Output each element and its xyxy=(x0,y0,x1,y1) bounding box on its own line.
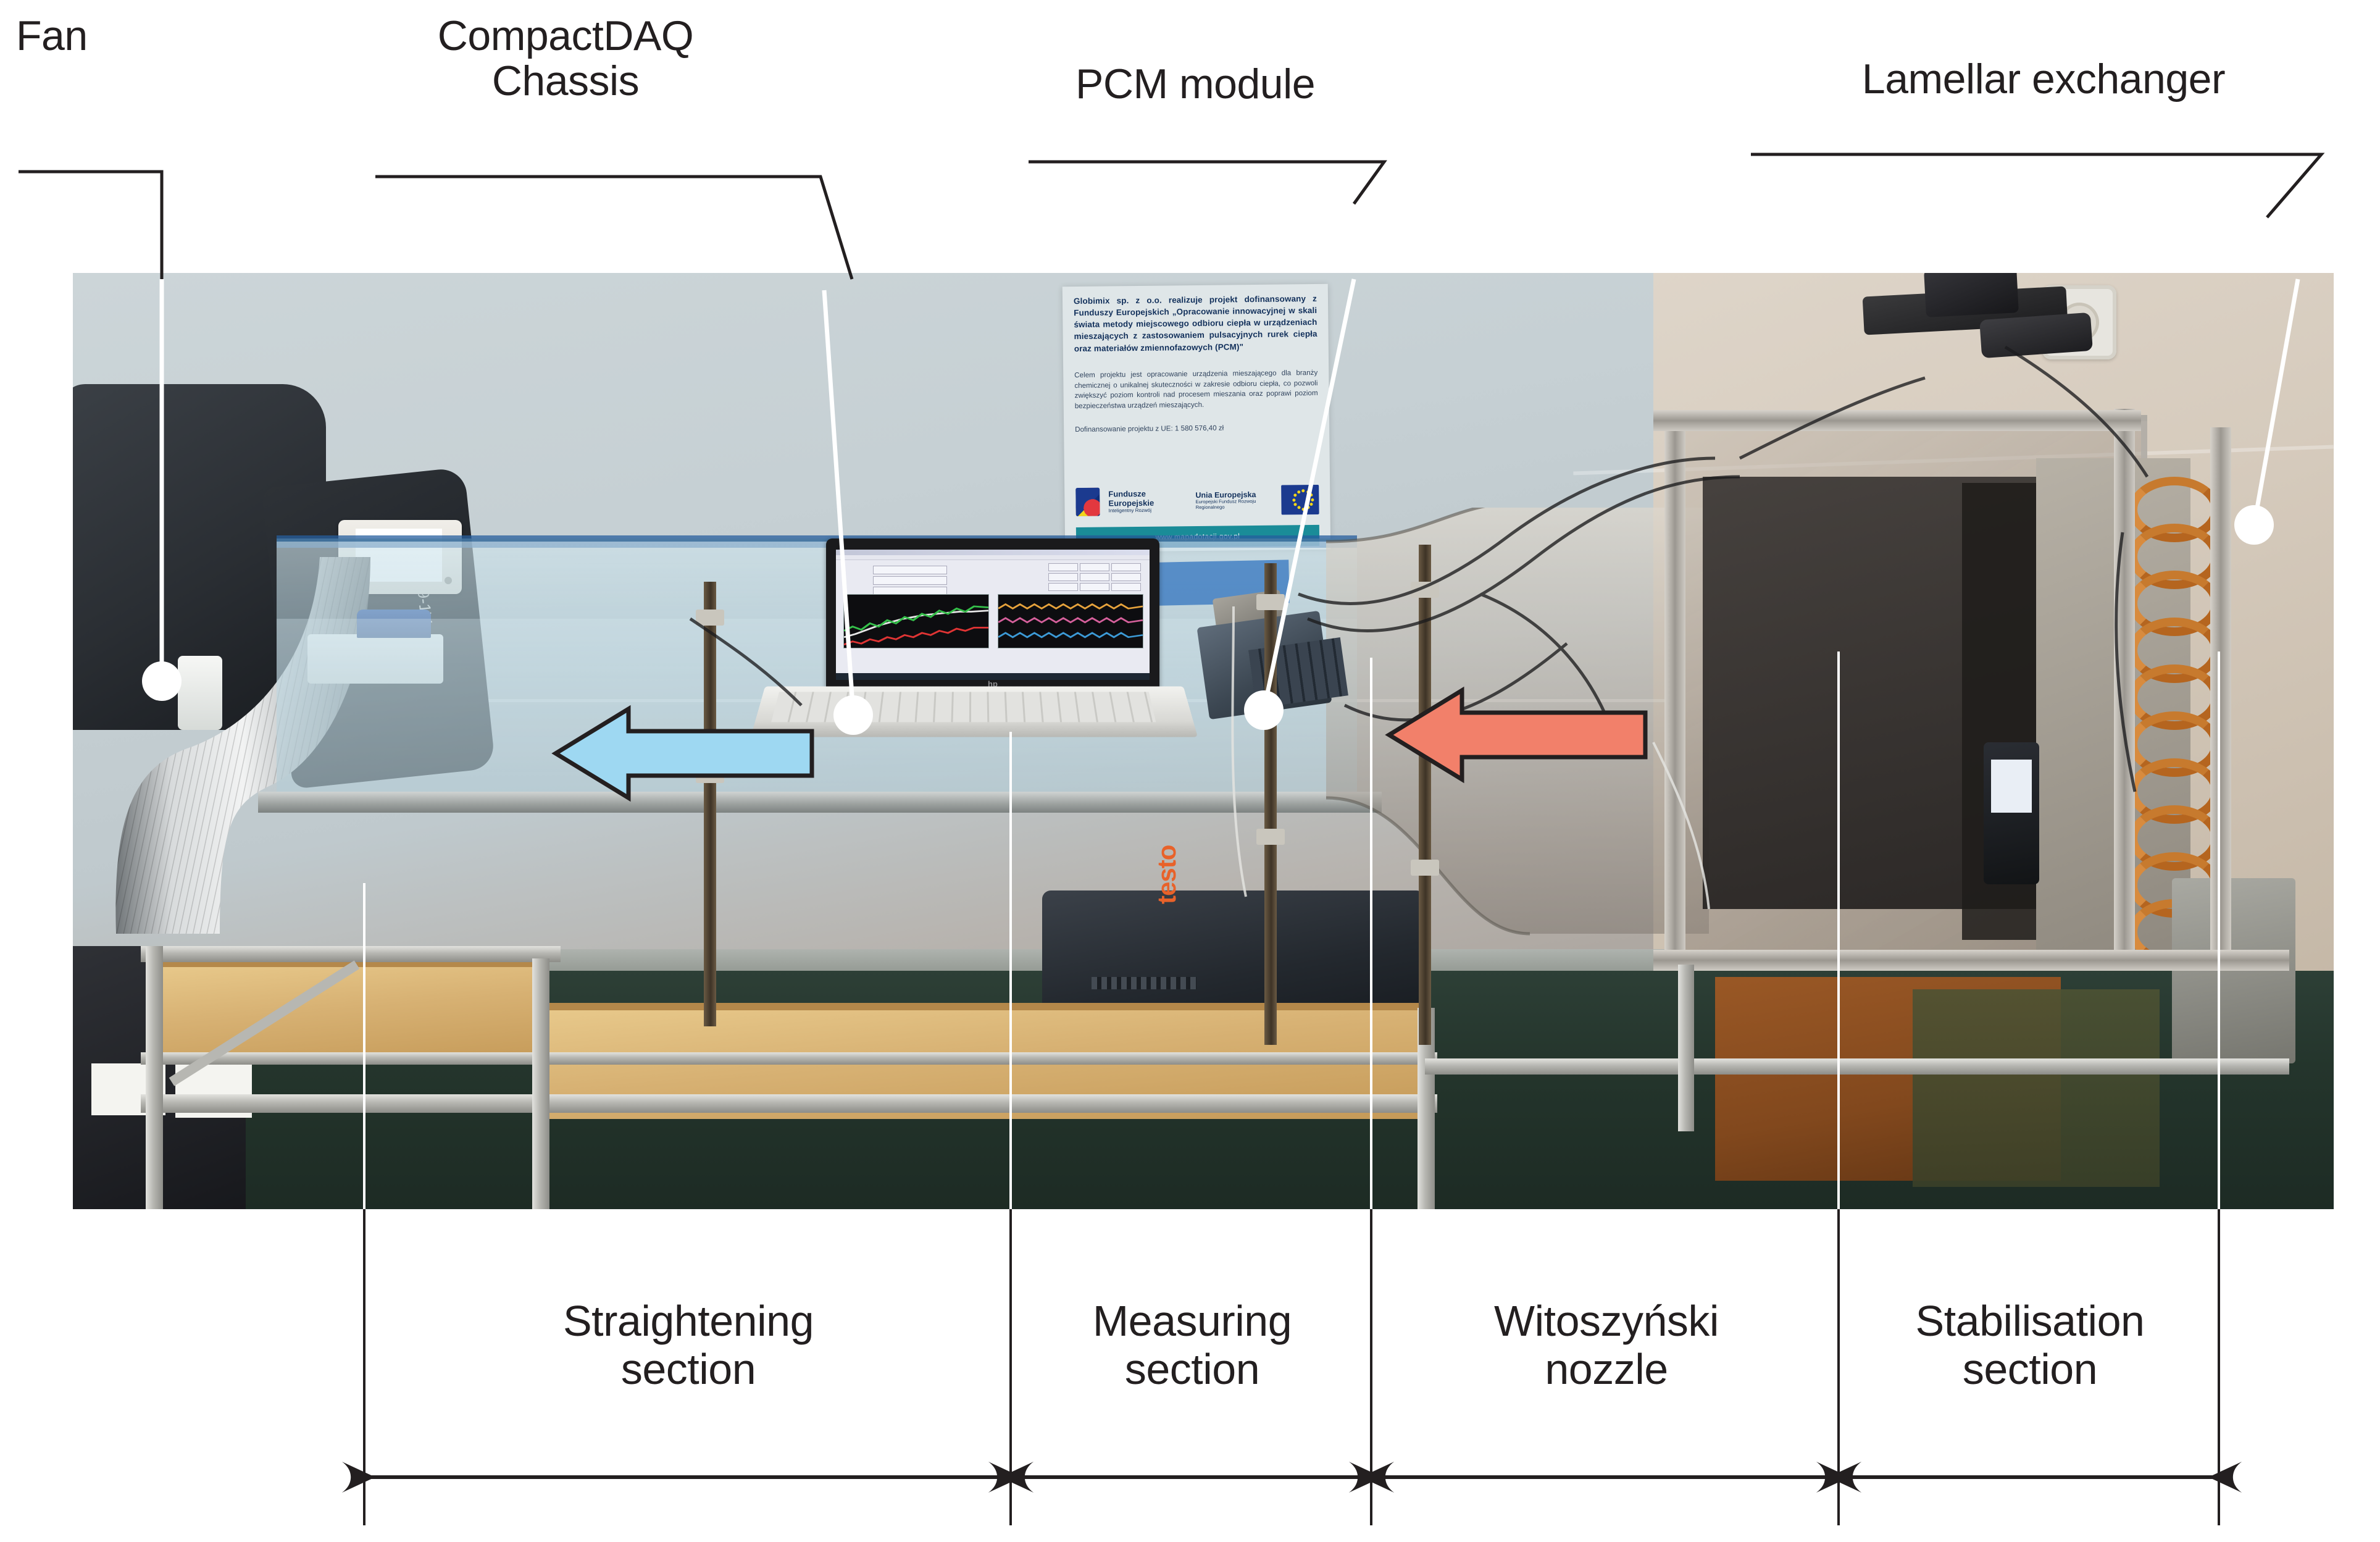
cold-flow-arrow xyxy=(556,692,815,818)
callout-label-lamellar-exchanger: Lamellar exchanger xyxy=(1722,57,2365,102)
experimental-setup-photograph: Globimix sp. z o.o. realizuje projekt do… xyxy=(73,273,2334,1209)
figure-stage: Globimix sp. z o.o. realizuje projekt do… xyxy=(0,0,2380,1542)
section-label-witoszynski-nozzle: Witoszyński nozzle xyxy=(1379,1297,1834,1394)
section-label-measuring: Measuring section xyxy=(1019,1297,1366,1394)
callout-label-pcm-module: PCM module xyxy=(992,62,1399,107)
callout-label-fan: Fan xyxy=(16,14,88,59)
instrumentation-cables xyxy=(73,273,2334,1209)
section-label-straightening: Straightening section xyxy=(370,1297,1006,1394)
callout-label-compactdaq-chassis: CompactDAQ Chassis xyxy=(362,14,769,104)
leader-line-pcm xyxy=(1029,162,1384,204)
leader-line-cdaq xyxy=(375,177,852,279)
leader-line-exchanger xyxy=(1751,154,2321,217)
hot-flow-arrow xyxy=(1389,673,1648,800)
section-label-stabilisation: Stabilisation section xyxy=(1846,1297,2214,1394)
